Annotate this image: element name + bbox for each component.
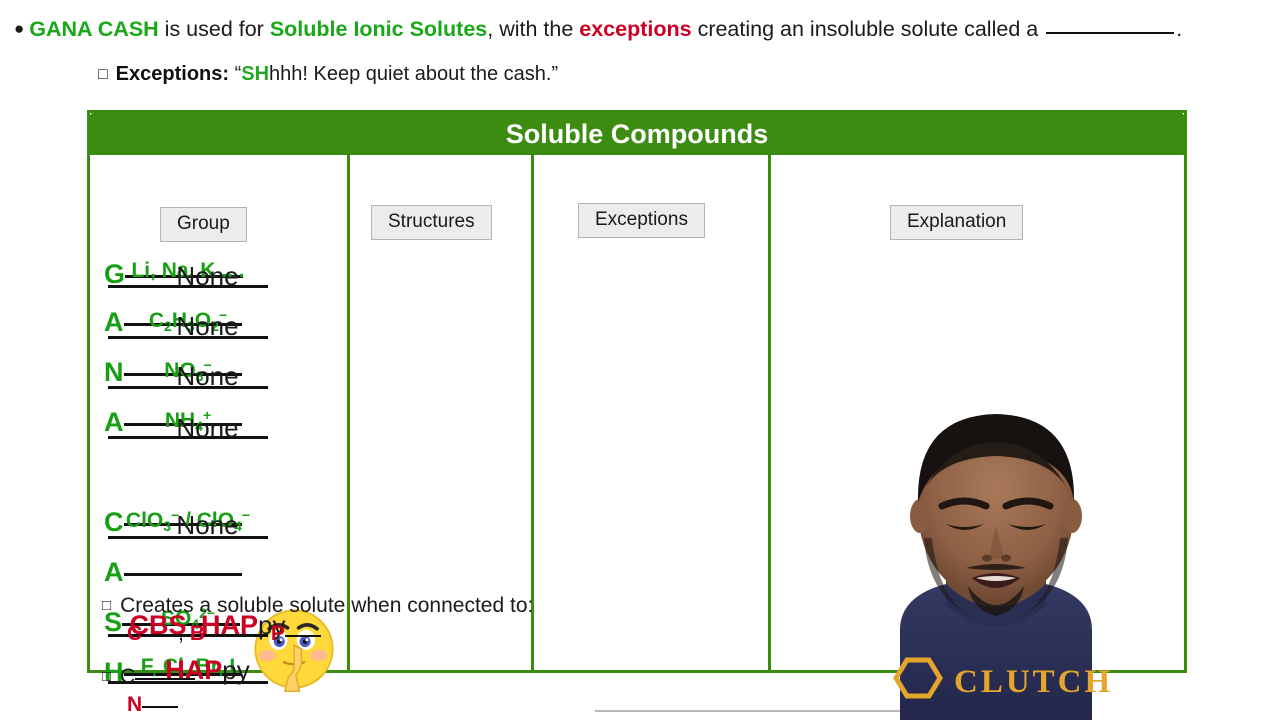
bullet-dot-icon: ● xyxy=(14,19,24,38)
column-header-structures: Structures xyxy=(371,205,492,240)
bullet1-period: . xyxy=(1176,17,1182,41)
explanation-line1-post: nnected to: xyxy=(429,594,533,617)
explanation-line1-pre: Creates a so xyxy=(120,594,239,617)
bullet1-fill-blank xyxy=(1046,32,1174,34)
bullet-line-exceptions-mnemonic: □Exceptions: “SHhhh! Keep quiet about th… xyxy=(98,63,558,86)
explanation-c-blank xyxy=(142,635,178,637)
slide-canvas: ●GANA CASH is used for Soluble Ionic Sol… xyxy=(0,0,1280,720)
explanation-n-blank xyxy=(142,706,178,708)
quote-open: “ xyxy=(229,63,241,85)
exception-none-5: None xyxy=(90,510,325,541)
bullet-line-gana-cash: ●GANA CASH is used for Soluble Ionic Sol… xyxy=(14,17,1270,42)
group-letter: A xyxy=(104,557,124,587)
soluble-ionic-solutes-label: Soluble Ionic Solutes xyxy=(270,17,487,41)
explanation-line1-mid: luble solute when co xyxy=(239,594,429,617)
table-title: Soluble Compounds xyxy=(90,113,1184,155)
column-header-group: Group xyxy=(160,207,247,242)
explanation-line3: C xyxy=(120,665,135,688)
bullet1-text-2: , with the xyxy=(487,17,579,41)
exception-none-3: None xyxy=(90,361,325,392)
explanation-line3-blank xyxy=(135,678,195,680)
exception-none-4: None xyxy=(90,413,325,444)
explanation-bullet-1: □Creates a soluble solute when connected… xyxy=(102,592,510,649)
column-divider-3 xyxy=(768,155,771,670)
column-header-exceptions: Exceptions xyxy=(578,203,705,238)
gana-cash-label: GANA CASH xyxy=(29,17,158,41)
explanation-b-label: B xyxy=(190,622,205,645)
group-row-6: A xyxy=(104,557,242,588)
bullet1-text-1: is used for xyxy=(159,17,270,41)
column-header-explanation: Explanation xyxy=(890,205,1023,240)
exceptions-heading: Exceptions: xyxy=(116,63,229,85)
presenter-video-overlay: CLUTCH xyxy=(796,398,1196,720)
sh-highlight: SH xyxy=(241,63,269,85)
explanation-square-icon-1: □ xyxy=(102,597,111,614)
explanation-sep: , xyxy=(178,622,184,645)
group-blank xyxy=(124,573,242,576)
explanation-square-icon-2: □ xyxy=(102,668,111,685)
explanation-p-blank xyxy=(285,635,321,637)
clutch-logo-text: CLUTCH xyxy=(954,664,1113,700)
shush-phrase: hhh! Keep quiet about the cash.” xyxy=(269,63,558,85)
explanation-p-label: P xyxy=(271,622,285,645)
explanation-n-label: N xyxy=(127,693,142,716)
explanation-b-blank xyxy=(205,635,265,637)
column-divider-2 xyxy=(531,155,534,670)
bullet-square-icon: □ xyxy=(98,66,108,83)
exceptions-label: exceptions xyxy=(579,17,691,41)
exception-none-2: None xyxy=(90,311,325,342)
explanation-line3-end: . xyxy=(195,665,201,688)
explanation-c-label: C xyxy=(127,622,142,645)
bullet1-text-3: creating an insoluble solute called a xyxy=(692,17,1045,41)
exception-none-1: None xyxy=(90,261,325,292)
explanation-bullet-2: □C. N xyxy=(102,663,510,720)
